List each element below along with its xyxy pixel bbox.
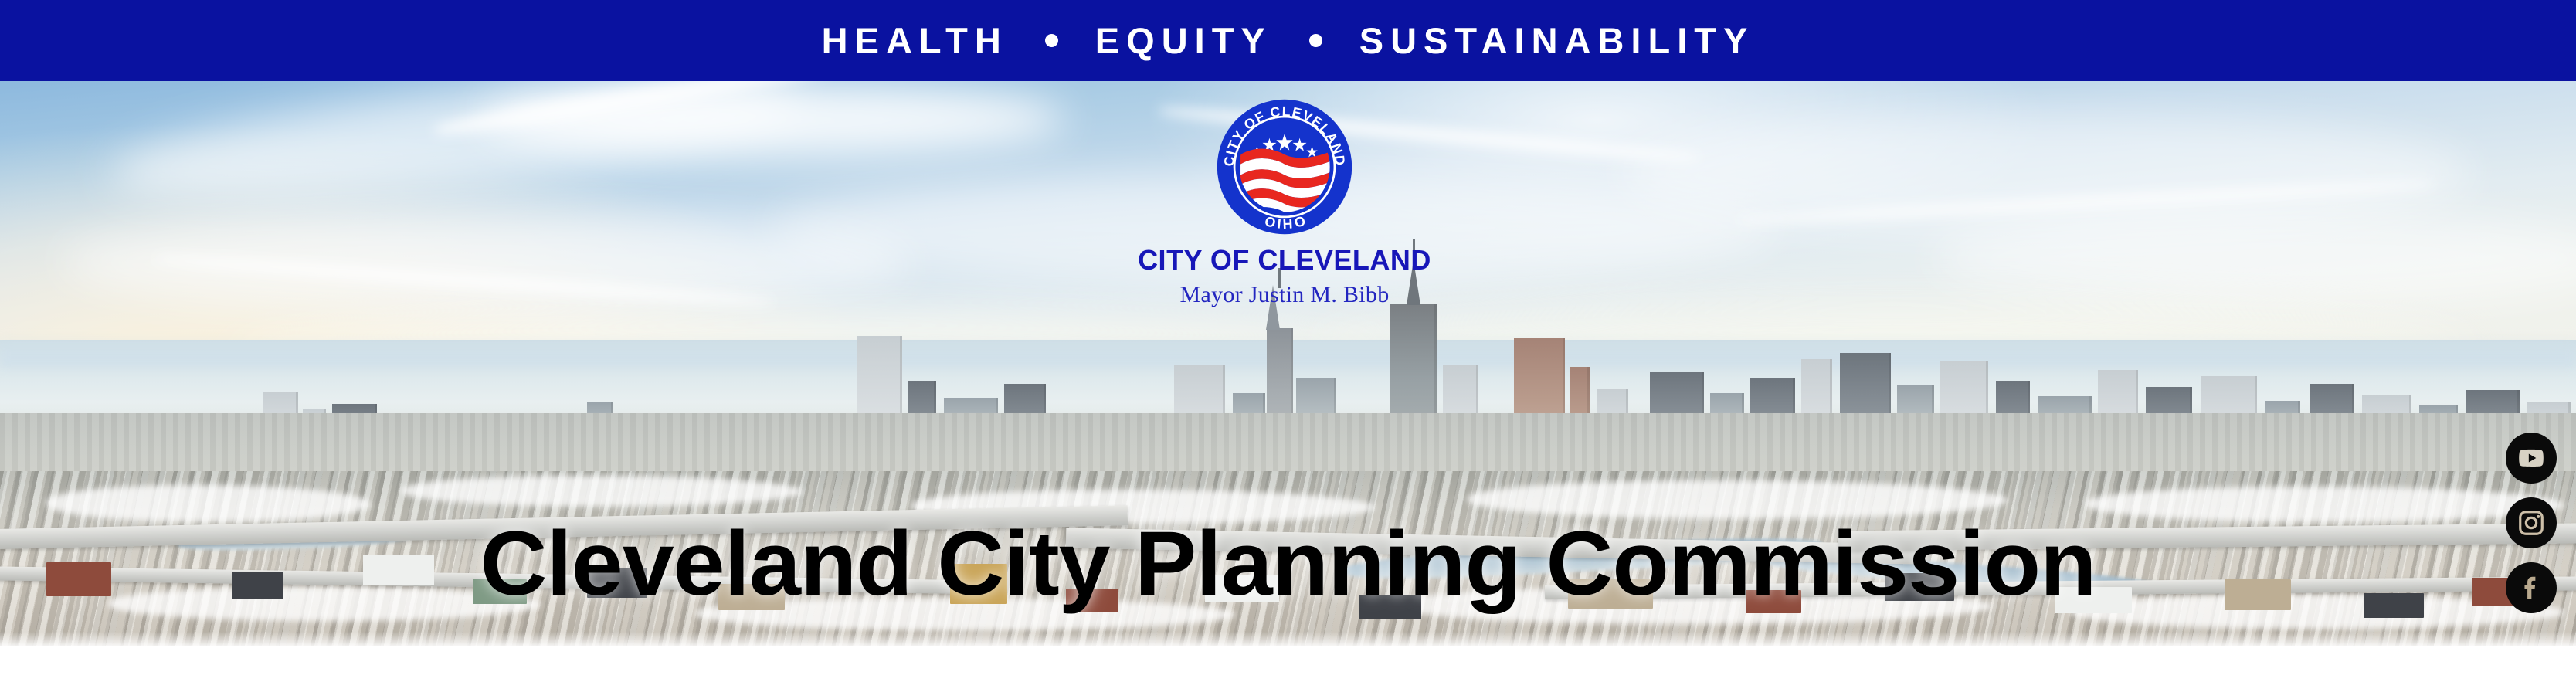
photo-bottom-fade bbox=[0, 632, 2576, 646]
social-links-rail bbox=[2506, 433, 2557, 613]
instagram-link[interactable] bbox=[2506, 497, 2557, 548]
page-title: Cleveland City Planning Commission bbox=[0, 518, 2576, 609]
city-of-cleveland-seal-icon: CITY OF CLEVELAND OHIO bbox=[1216, 98, 1353, 236]
tagline-word-health: HEALTH bbox=[822, 22, 1008, 59]
facebook-link[interactable] bbox=[2506, 562, 2557, 613]
tagline-word-sustainability: SUSTAINABILITY bbox=[1359, 22, 1755, 59]
tagline-word-equity: EQUITY bbox=[1095, 22, 1272, 59]
city-branding-block: CITY OF CLEVELAND OHIO bbox=[1091, 98, 1478, 307]
facebook-icon bbox=[2517, 573, 2546, 602]
youtube-icon bbox=[2517, 443, 2546, 473]
city-name-label: CITY OF CLEVELAND bbox=[1091, 246, 1478, 274]
mayor-name-label: Mayor Justin M. Bibb bbox=[1091, 283, 1478, 307]
page-root: HEALTH EQUITY SUSTAINABILITY bbox=[0, 0, 2576, 682]
tagline-banner: HEALTH EQUITY SUSTAINABILITY bbox=[0, 0, 2576, 81]
youtube-link[interactable] bbox=[2506, 433, 2557, 484]
tagline-inner: HEALTH EQUITY SUSTAINABILITY bbox=[822, 22, 1755, 59]
dot-separator-icon bbox=[1045, 34, 1058, 47]
instagram-icon bbox=[2517, 508, 2546, 538]
dot-separator-icon bbox=[1309, 34, 1322, 47]
